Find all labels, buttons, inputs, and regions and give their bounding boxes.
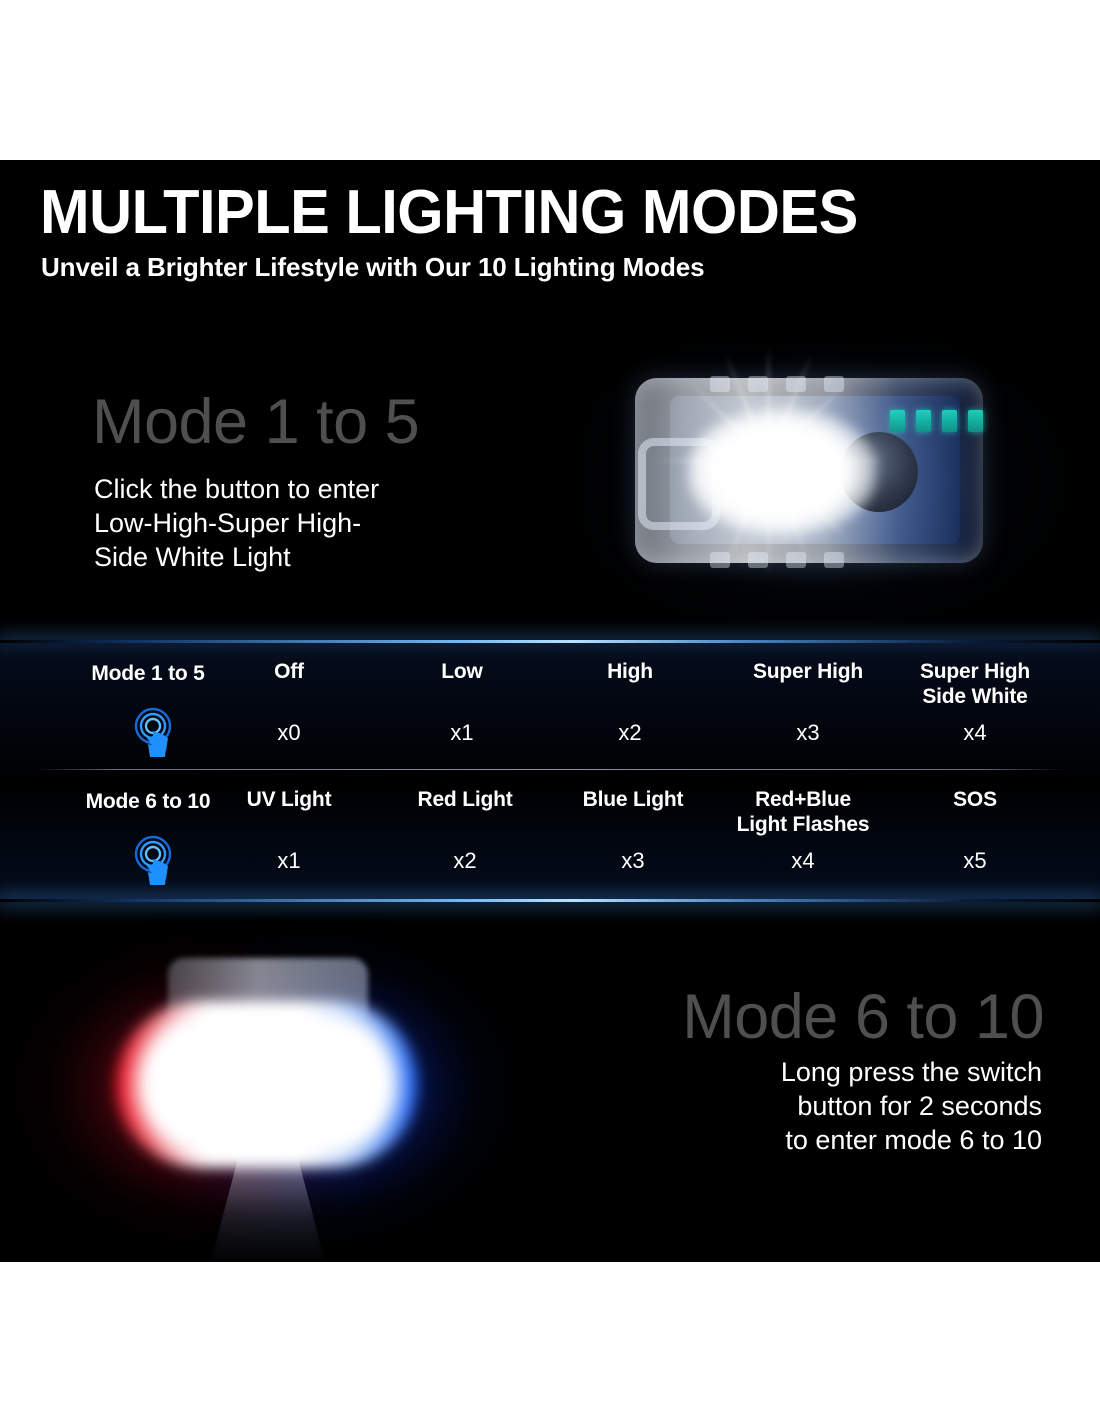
click-count: x2: [395, 849, 535, 873]
table-cell: SOS x5: [895, 771, 1055, 899]
mode-name: Off: [222, 659, 356, 684]
mode-name: Super High Side White: [895, 659, 1055, 709]
table-row: Mode 1 to 5 Off x0 Low x1: [0, 643, 1100, 771]
mode-6-to-10-description: Long press the switch button for 2 secon…: [781, 1055, 1042, 1157]
flashlight-fin: [786, 552, 806, 568]
page-subtitle: Unveil a Brighter Lifestyle with Our 10 …: [41, 252, 704, 282]
mode-6-to-10-heading: Mode 6 to 10: [682, 985, 1044, 1049]
mode-name: Red+Blue Light Flashes: [713, 787, 893, 837]
table-cell: Super High Side White x4: [895, 643, 1055, 771]
flashlight-chip: [942, 410, 957, 432]
click-count: x2: [563, 721, 697, 745]
flashlight-lens-hotspot: [136, 1013, 398, 1155]
touch-tap-icon: [132, 707, 178, 757]
flashlight-fin: [710, 376, 730, 392]
table-cell: Super High x3: [723, 643, 893, 771]
infographic-page: MULTIPLE LIGHTING MODES Unveil a Brighte…: [0, 0, 1100, 1422]
click-count: x5: [895, 849, 1055, 873]
touch-tap-icon: [132, 835, 178, 885]
flashlight-starburst: [765, 458, 771, 464]
flashlight-fin: [824, 552, 844, 568]
black-content-board: MULTIPLE LIGHTING MODES Unveil a Brighte…: [0, 160, 1100, 1262]
table-cell: Red+Blue Light Flashes x4: [713, 771, 893, 899]
mode-name: UV Light: [222, 787, 356, 812]
click-count: x4: [713, 849, 893, 873]
table-row: Mode 6 to 10 UV Light x1 Red Light x2: [0, 771, 1100, 899]
flashlight-chip: [968, 410, 983, 432]
click-count: x0: [222, 721, 356, 745]
flashlight-chip: [916, 410, 931, 432]
flashlight-fin: [748, 552, 768, 568]
click-count: x3: [723, 721, 893, 745]
divider-glow-bottom: [0, 899, 1100, 902]
mode-name: Red Light: [395, 787, 535, 812]
flashlight-fin: [748, 376, 768, 392]
click-count: x4: [895, 721, 1055, 745]
lighting-modes-table: Mode 1 to 5 Off x0 Low x1: [0, 643, 1100, 899]
flashlight-chip: [890, 410, 905, 432]
click-count: x1: [395, 721, 529, 745]
table-cell: High x2: [563, 643, 697, 771]
table-cell: Low x1: [395, 643, 529, 771]
page-title: MULTIPLE LIGHTING MODES: [40, 182, 1019, 244]
bottom-product-image: [0, 920, 550, 1262]
click-count: x1: [222, 849, 356, 873]
click-count: x3: [563, 849, 703, 873]
mode-name: SOS: [895, 787, 1055, 812]
table-cell: UV Light x1: [222, 771, 356, 899]
mode-1-to-5-description: Click the button to enter Low-High-Super…: [94, 472, 379, 574]
table-cell: Off x0: [222, 643, 356, 771]
mode-name: High: [563, 659, 697, 684]
table-cell: Red Light x2: [395, 771, 535, 899]
mode-name: Low: [395, 659, 529, 684]
mode-1-to-5-heading: Mode 1 to 5: [92, 390, 419, 454]
table-cell: Blue Light x3: [563, 771, 703, 899]
mode-name: Blue Light: [563, 787, 703, 812]
mode-name: Super High: [723, 659, 893, 684]
top-product-image: [560, 330, 1100, 630]
